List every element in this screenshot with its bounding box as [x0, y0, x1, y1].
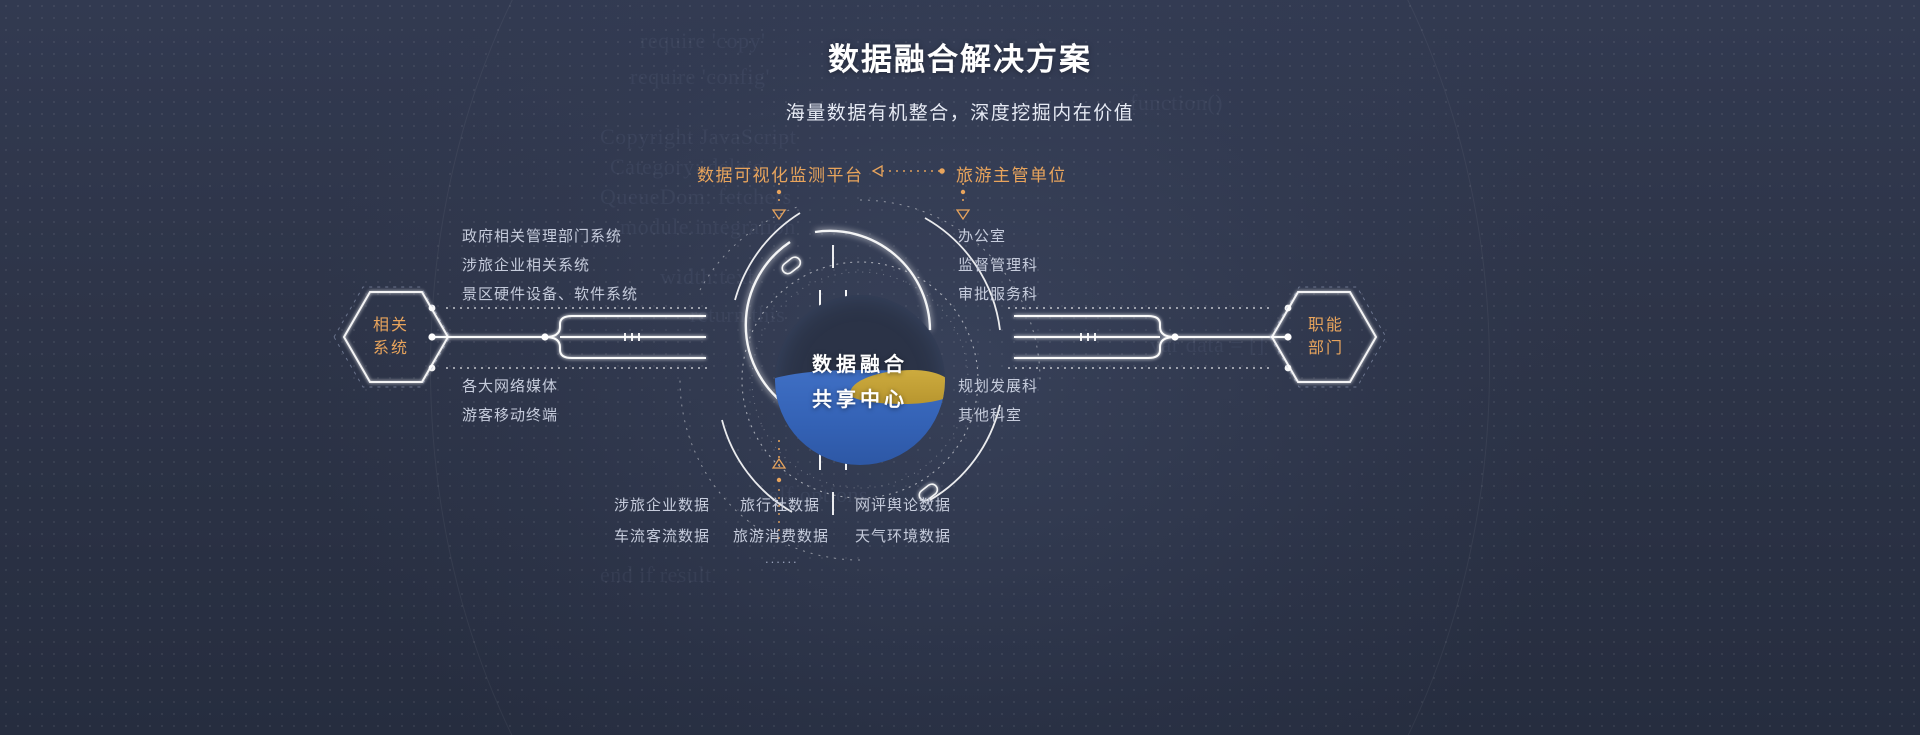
left-label-0: 政府相关管理部门系统 [462, 225, 622, 246]
hexagon-left-line1: 相关 [373, 314, 409, 337]
hexagon-left-label: 相关 系统 [333, 273, 449, 401]
bottom-label-3: 车流客流数据 [614, 525, 710, 546]
node-tourism-authority[interactable]: 旅游主管单位 [956, 161, 1067, 186]
right-label-1: 监督管理科 [958, 254, 1038, 275]
page-subtitle: 海量数据有机整合，深度挖掘内在价值 [0, 98, 1920, 125]
left-label-1: 涉旅企业相关系统 [462, 254, 590, 275]
bottom-label-5: 天气环境数据 [855, 525, 951, 546]
bottom-label-1: 旅行社数据 [740, 494, 820, 515]
page-header: 数据融合解决方案 海量数据有机整合，深度挖掘内在价值 [0, 34, 1920, 125]
left-label-4: 游客移动终端 [462, 404, 558, 425]
page-title: 数据融合解决方案 [0, 34, 1920, 79]
infographic-canvas: require 'copy' require 'config' Copyrigh… [0, 0, 1920, 735]
bottom-label-4: 旅游消费数据 [733, 525, 829, 546]
node-data-visualization-platform[interactable]: 数据可视化监测平台 [697, 161, 864, 186]
hexagon-right-label: 职能 部门 [1268, 273, 1384, 401]
central-globe [775, 295, 945, 465]
bottom-label-2: 网评舆论数据 [855, 494, 951, 515]
right-label-2: 审批服务科 [958, 283, 1038, 304]
right-label-0: 办公室 [958, 225, 1006, 246]
hexagon-right-line1: 职能 [1308, 314, 1344, 337]
left-label-2: 景区硬件设备、软件系统 [462, 283, 638, 304]
hexagon-left-line2: 系统 [373, 337, 409, 360]
hexagon-right-line2: 部门 [1308, 337, 1344, 360]
bottom-ellipsis: ...... [765, 551, 799, 566]
right-label-3: 规划发展科 [958, 375, 1038, 396]
hexagon-left[interactable]: 相关 系统 [333, 273, 449, 401]
right-label-4: 其他科室 [958, 404, 1022, 425]
bottom-label-0: 涉旅企业数据 [614, 494, 710, 515]
hexagon-right[interactable]: 职能 部门 [1268, 273, 1384, 401]
left-label-3: 各大网络媒体 [462, 375, 558, 396]
